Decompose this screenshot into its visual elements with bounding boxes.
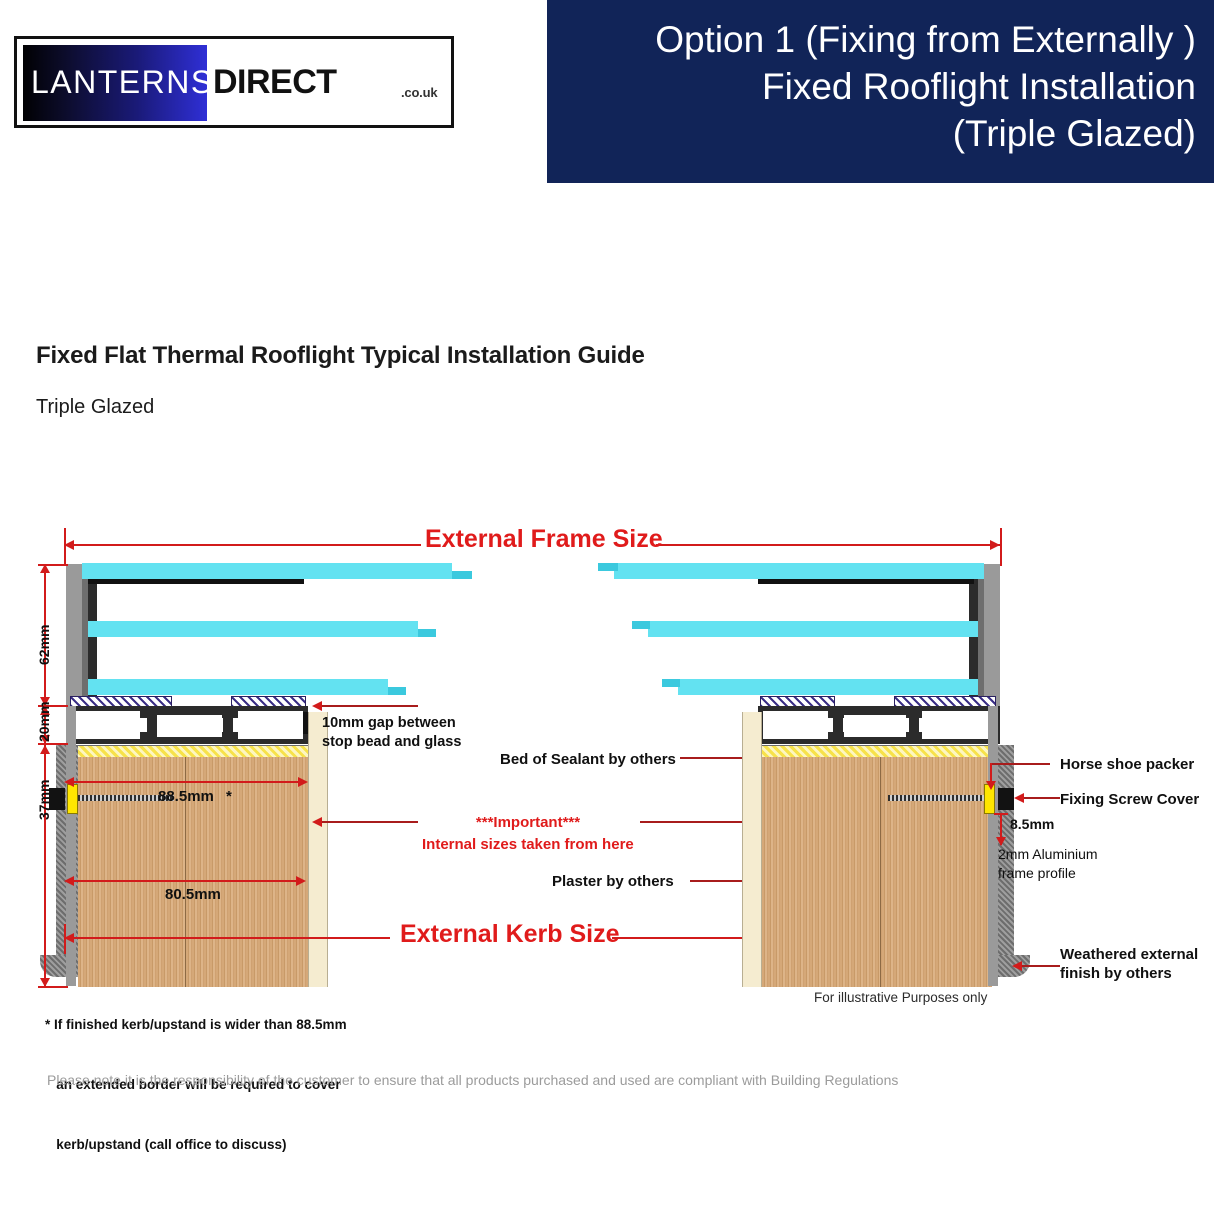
left-profile-web-upper (140, 710, 156, 718)
leader-10mm-gap (318, 705, 418, 707)
callout-weathered-finish-line2: finish by others (1060, 964, 1198, 983)
vdim-85-label: 8.5mm (1010, 816, 1054, 832)
right-profile-web-upper (828, 710, 844, 718)
glass-pane-inner-left (88, 679, 388, 695)
leader-important-left-arrow (312, 817, 322, 827)
glass-pane-outer-left (82, 563, 452, 579)
vdim-37-label: 37mm (36, 780, 52, 820)
glass-pane-outer-left-edge (452, 571, 472, 579)
kerb-dim-line-left (70, 937, 390, 939)
glass-pane-outer-right-edge (598, 563, 618, 571)
important-note-line2: Internal sizes taken from here (422, 834, 628, 856)
right-profile-chamber-center (838, 710, 914, 742)
leader-fixing-screw-cover-arrow (1014, 793, 1024, 803)
banner-title-block: Option 1 (Fixing from Externally ) Fixed… (566, 16, 1196, 157)
glass-pane-outer-right (614, 563, 984, 579)
brand-logo: LANTERNS DIRECT .co.uk (14, 36, 454, 128)
callout-10mm-gap: 10mm gap between stop bead and glass (322, 714, 461, 752)
left-horse-shoe-packer (67, 784, 78, 814)
vdim-62-label: 62mm (36, 625, 52, 665)
callout-aluminium-profile-line2: frame profile (998, 864, 1098, 883)
left-profile-chamber-center (152, 710, 228, 742)
leader-10mm-gap-arrow (312, 701, 322, 711)
banner-line-1: Option 1 (Fixing from Externally ) (566, 16, 1196, 63)
right-plaster-board (742, 712, 762, 987)
frame-dim-line-right (656, 544, 1000, 546)
important-note-line1: ***Important*** (428, 812, 628, 834)
right-timber-kerb (762, 757, 992, 987)
frame-dim-line-left (66, 544, 421, 546)
leader-fixing-screw-cover (1022, 797, 1060, 799)
hdim-885-value: 88.5mm (158, 788, 214, 805)
leader-weathered-finish (1020, 965, 1060, 967)
leader-horse-shoe-packer-arrow (986, 781, 996, 790)
right-fixing-screw-cover (998, 788, 1014, 810)
vdim-20-label: 20mm (36, 702, 52, 742)
header-banner: Option 1 (Fixing from Externally ) Fixed… (547, 0, 1214, 183)
left-profile-web-lower2 (222, 732, 238, 740)
left-plaster-board (308, 712, 328, 987)
hdim-885-arrow-right (298, 777, 308, 787)
callout-weathered-finish: Weathered external finish by others (1060, 945, 1198, 983)
right-outer-aluminium-skin (984, 564, 1000, 706)
hdim-805-arrow-left (64, 876, 74, 886)
banner-line-3: (Triple Glazed) (566, 110, 1196, 157)
hdim-805-label: 80.5mm (165, 886, 221, 903)
page-subtitle: Triple Glazed (36, 396, 154, 419)
glass-pane-inner-right-edge (662, 679, 680, 687)
frame-dim-arrow-right (990, 540, 1000, 550)
callout-plaster: Plaster by others (552, 872, 674, 891)
banner-line-2: Fixed Rooflight Installation (566, 63, 1196, 110)
external-frame-size-label: External Frame Size (425, 525, 663, 554)
leader-weathered-finish-arrow (1012, 961, 1022, 971)
callout-fixing-screw-cover: Fixing Screw Cover (1060, 790, 1199, 809)
illustrative-note: For illustrative Purposes only (814, 990, 987, 1005)
hdim-885-line (70, 781, 306, 783)
vdim-62-tick-top (38, 564, 68, 566)
hdim-805-arrow-right (296, 876, 306, 886)
callout-bed-of-sealant: Bed of Sealant by others (500, 750, 676, 769)
right-outer-upstand-plate (988, 706, 998, 986)
right-profile-web-lower2 (906, 732, 922, 740)
building-regs-disclaimer: Please note it is the responsibility of … (47, 1072, 898, 1088)
glass-pane-middle-right-edge (632, 621, 650, 629)
kerb-footnote-line1: * If finished kerb/upstand is wider than… (45, 1015, 347, 1035)
frame-dim-tick-right (1000, 528, 1002, 566)
vdim-85-tick-top (994, 813, 1008, 815)
callout-10mm-gap-line2: stop bead and glass (322, 733, 461, 752)
right-fixing-screw (888, 795, 984, 801)
glass-spacer-bar-top-right (758, 579, 974, 584)
glass-pane-middle-right (648, 621, 978, 637)
left-outer-upstand-plate (66, 706, 76, 986)
kerb-footnote-line3: kerb/upstand (call office to discuss) (45, 1135, 347, 1155)
right-profile-web-upper2 (906, 710, 922, 718)
right-profile-web-lower (828, 732, 844, 740)
glass-pane-middle-left (88, 621, 418, 637)
left-profile-web-upper2 (222, 710, 238, 718)
vdim-37-arrow-top (40, 745, 50, 754)
right-timber-kerb-joint (880, 757, 881, 987)
external-kerb-size-label: External Kerb Size (400, 920, 620, 949)
logo-word-lanterns: LANTERNS (31, 59, 206, 105)
important-note: ***Important*** Internal sizes taken fro… (428, 812, 628, 856)
logo-word-direct: DIRECT (213, 59, 337, 105)
leader-important-right (640, 821, 750, 823)
logo-tld: .co.uk (401, 85, 437, 100)
hdim-805-line (70, 880, 304, 882)
callout-aluminium-profile-line1: 2mm Aluminium (998, 845, 1098, 864)
right-profile-chamber-inner (758, 706, 838, 744)
page-title: Fixed Flat Thermal Rooflight Typical Ins… (36, 342, 645, 370)
glass-pane-inner-right (678, 679, 978, 695)
left-profile-web-lower (140, 732, 156, 740)
hdim-885-arrow-left (64, 777, 74, 787)
callout-horse-shoe-packer: Horse shoe packer (1060, 755, 1194, 774)
left-profile-chamber-inner (228, 706, 308, 744)
callout-aluminium-profile: 2mm Aluminium frame profile (998, 845, 1098, 883)
glass-spacer-bar-top-left (88, 579, 304, 584)
leader-important-left (318, 821, 418, 823)
hdim-885-label: 88.5mm * (158, 788, 232, 805)
glass-pane-middle-left-edge (418, 629, 436, 637)
left-outer-aluminium-skin (66, 564, 82, 706)
kerb-dim-arrow-left (64, 933, 74, 943)
glass-pane-inner-left-edge (388, 687, 406, 695)
page-header: LANTERNS DIRECT .co.uk Option 1 (Fixing … (0, 0, 1214, 190)
hdim-885-suffix: * (226, 788, 232, 805)
leader-horse-shoe-packer (990, 763, 1050, 765)
callout-weathered-finish-line1: Weathered external (1060, 945, 1198, 964)
frame-dim-arrow-left (64, 540, 74, 550)
callout-10mm-gap-line1: 10mm gap between (322, 714, 461, 733)
